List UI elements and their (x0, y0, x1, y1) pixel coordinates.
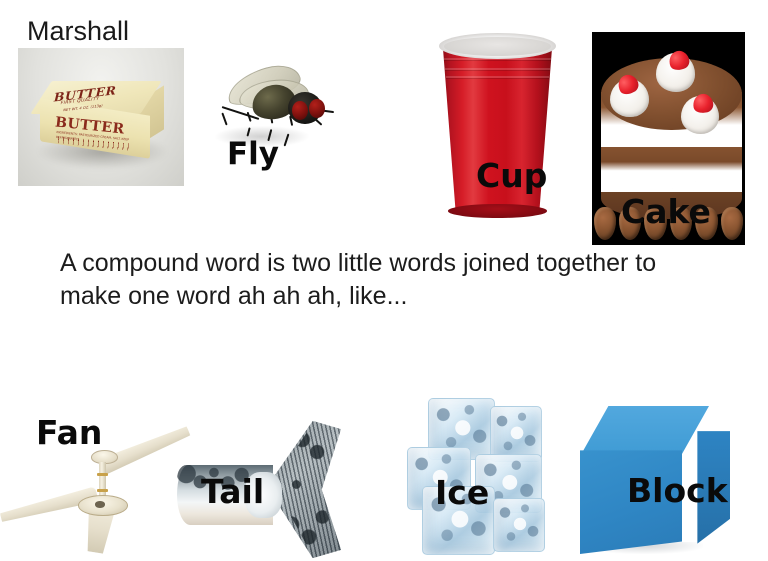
ice-frost (494, 499, 544, 550)
cake-rosette (594, 207, 616, 240)
cake-image-tile: Cake (592, 32, 745, 245)
cup-rim-inner (444, 37, 551, 56)
cup-ring (445, 68, 550, 70)
cake-icing-drip (601, 130, 742, 147)
compound-words-slide: Marshall BUTTER FIRST QUALITY NET WT. 4 … (0, 0, 768, 561)
fish-fin-spots (273, 427, 338, 553)
tail-image-tile: Tail (183, 418, 338, 561)
block-image-tile: Block (580, 406, 730, 554)
fly-image-tile: Fly (205, 42, 335, 177)
fan-rod-band (97, 473, 108, 476)
word-label-fan: Fan (36, 416, 102, 449)
word-label-ice: Ice (435, 476, 489, 509)
word-label-tail: Tail (201, 475, 264, 508)
fan-blade (97, 423, 191, 476)
fly-eye (292, 101, 308, 120)
ice-image-tile: Ice (404, 396, 552, 556)
fan-rod-band (97, 489, 108, 492)
fly-leg (221, 112, 227, 125)
cup-image-tile: Cup (432, 26, 563, 224)
ice-frost (491, 407, 541, 461)
word-label-cake: Cake (621, 195, 711, 228)
presenter-name: Marshall (27, 16, 129, 47)
word-label-fly: Fly (227, 139, 279, 170)
word-label-cup: Cup (476, 159, 547, 192)
fan-image-tile: Fan (2, 400, 192, 556)
butter-image-tile: BUTTER FIRST QUALITY NET WT. 4 OZ. (113g… (18, 48, 184, 186)
fly-eye (309, 99, 325, 118)
ice-cube (493, 498, 545, 551)
cake-rosette (721, 207, 743, 240)
block-top-face (580, 406, 709, 456)
word-label-block: Block (627, 474, 728, 507)
cup-ring (446, 76, 548, 78)
cup-base (448, 204, 548, 218)
lesson-text: A compound word is two little words join… (60, 247, 680, 312)
fan-hub-dot (95, 501, 105, 507)
cake-icing-drip (601, 175, 742, 192)
